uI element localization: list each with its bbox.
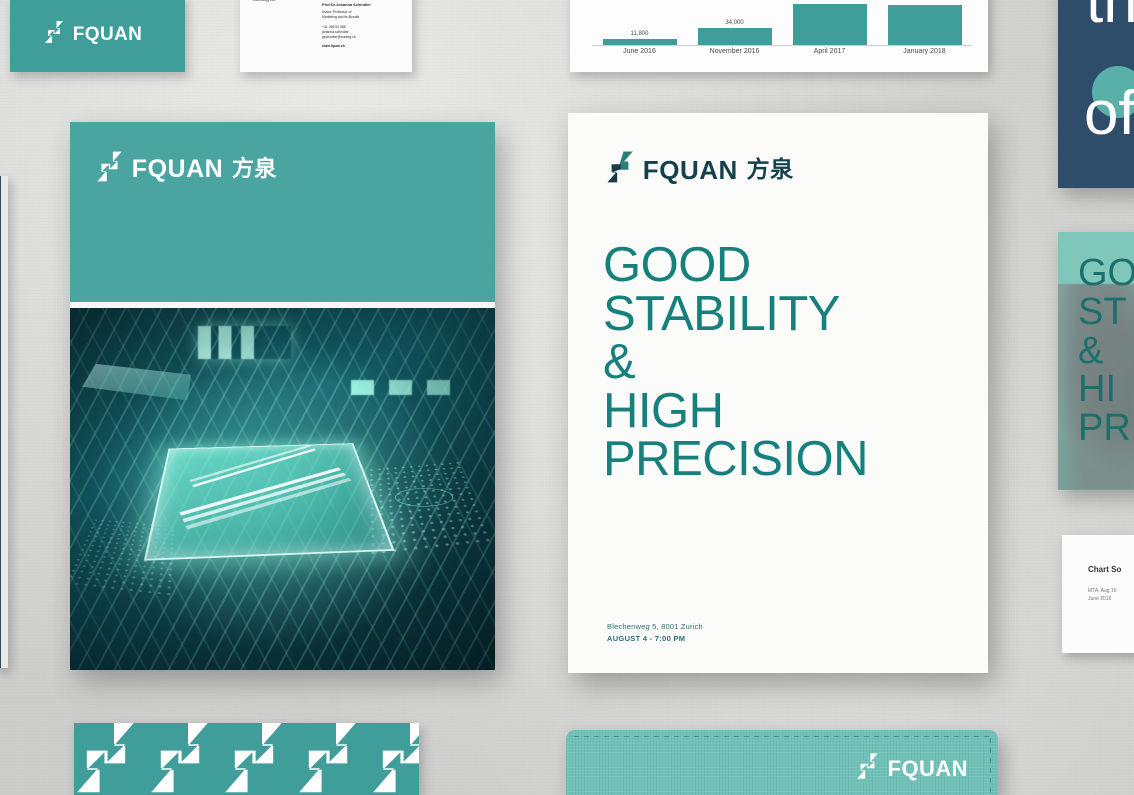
fabric-stitch-top: [574, 736, 990, 737]
teal-poster-headline-line-4: HI: [1078, 370, 1134, 409]
poster-footer: Blechenweg 5, 8001 Zurich AUGUST 4 - 7:0…: [607, 622, 703, 643]
fquan-logo-mark-icon: [296, 723, 360, 795]
circuit-board-photo: [70, 308, 495, 670]
card-role-line-1: Assoc. Professor of: [322, 10, 351, 14]
poster-edge-sliver: [0, 176, 8, 668]
poster-logo-lockup: FQUAN 方泉: [606, 150, 794, 189]
pcb-image: [70, 308, 495, 670]
poster-headline-line-4: HIGH: [603, 387, 968, 436]
chart-x-axis-labels: June 2016November 2016April 2017January …: [592, 48, 972, 55]
teal-poster-headline-line-3: &: [1078, 332, 1134, 371]
fquan-logo-mark-icon: [74, 723, 138, 795]
card-logo-wordmark: FQUAN: [73, 25, 142, 44]
chart-bar-value-label: 34,000: [725, 20, 743, 26]
edge-spine: [0, 176, 1, 668]
chart-bar: [698, 28, 772, 45]
fquan-logo-mark-icon: [222, 723, 286, 795]
brochure-logo-chinese: 方泉: [232, 158, 277, 180]
card-logo-lockup: FQUAN: [44, 20, 142, 49]
main-poster: FQUAN 方泉 GOODSTABILITY&HIGHPRECISION Ble…: [568, 113, 988, 673]
pattern-mark-row: [74, 723, 419, 795]
fabric-logo-lockup: FQUAN: [856, 752, 968, 785]
brochure-teal-band: FQUAN 方泉: [70, 122, 495, 302]
card-left-text-block: Technology Ltd.: [252, 0, 312, 3]
brochure-cover: FQUAN 方泉: [70, 122, 495, 670]
bar-chart: 11,80034,000: [592, 0, 972, 46]
poster-datetime: AUGUST 4 - 7:00 PM: [607, 634, 703, 643]
fabric-logo-wordmark: FQUAN: [888, 758, 968, 780]
brochure-logo-lockup: FQUAN 方泉: [96, 150, 277, 188]
card-contact-line-2: johanna.schindler.: [322, 30, 349, 34]
chart-x-tick-label: June 2016: [598, 48, 682, 55]
chart-bar-value-label: 11,800: [631, 31, 649, 37]
chart-bar-group: 34,000: [693, 0, 777, 45]
teal-poster-headline: GOST&HIPR: [1078, 254, 1134, 448]
card-website: www.fquan.ch: [322, 44, 345, 48]
fquan-logo-mark-icon: [606, 150, 634, 189]
teal-poster: GOST&HIPR: [1058, 232, 1134, 490]
chart-bar: [603, 39, 677, 45]
teal-poster-headline-line-2: ST: [1078, 293, 1134, 332]
poster-headline-line-1: GOOD: [603, 241, 968, 290]
fquan-logo-mark-icon: [148, 723, 212, 795]
chart-document-subtext: MTA, Aug 16 June 2016: [1088, 587, 1117, 603]
fquan-logo-mark-icon: [44, 20, 64, 49]
teal-poster-headline-line-5: PR: [1078, 409, 1134, 448]
poster-headline-line-5: PRECISION: [603, 435, 968, 484]
chart-bar-group: [883, 0, 967, 45]
chart-bar: [793, 4, 867, 45]
card-role-line-2: Marketing and its Bundle: [322, 15, 359, 19]
fquan-logo-mark-icon: [370, 723, 419, 795]
chart-bar-group: [788, 0, 872, 45]
chart-bar: [888, 5, 962, 45]
card-contact-line-3: gschindler@surseg.ch: [322, 35, 356, 39]
chart-x-tick-label: April 2017: [788, 48, 872, 55]
card-contact-text-block: Prof.Dr.Johanna Schindler Assoc. Profess…: [322, 2, 404, 50]
chart-bar-group: 11,800: [598, 0, 682, 45]
teal-poster-headline-line-1: GO: [1078, 254, 1134, 293]
teal-business-card: FQUAN: [10, 0, 185, 72]
pattern-card: [74, 723, 419, 795]
white-business-card: Technology Ltd. Prof.Dr.Johanna Schindle…: [240, 0, 412, 72]
card-company-line: Technology Ltd.: [252, 0, 276, 2]
chart-document-sub-line-1: MTA, Aug 16: [1088, 588, 1117, 594]
chart-plot-area: 11,80034,000: [592, 0, 972, 46]
brochure-logo-wordmark: FQUAN: [132, 157, 223, 182]
card-person-name: Prof.Dr.Johanna Schindler: [322, 2, 404, 8]
chart-x-tick-label: January 2018: [883, 48, 967, 55]
poster-headline: GOODSTABILITY&HIGHPRECISION: [603, 241, 968, 484]
poster-headline-line-3: &: [603, 338, 968, 387]
pcb-vignette: [70, 308, 495, 670]
poster-logo-wordmark: FQUAN: [643, 157, 738, 183]
poster-headline-line-2: STABILITY: [603, 290, 968, 339]
chart-sheet: 11,80034,000 June 2016November 2016April…: [570, 0, 988, 72]
fquan-logo-mark-icon: [96, 150, 123, 188]
card-contact-line-1: +41 266 94 088: [322, 25, 346, 29]
poster-logo-chinese: 方泉: [747, 158, 794, 181]
chart-document-sub-line-2: June 2016: [1088, 596, 1111, 602]
poster-address: Blechenweg 5, 8001 Zurich: [607, 622, 703, 631]
navy-poster-line-1: th: [1086, 0, 1134, 32]
chart-x-tick-label: November 2016: [693, 48, 777, 55]
fquan-logo-mark-icon: [856, 752, 879, 785]
fabric-stitch-right: [990, 738, 991, 795]
chart-document-title: Chart So: [1088, 565, 1121, 574]
navy-poster: th of: [1058, 0, 1134, 188]
teal-fabric-item: FQUAN: [566, 730, 998, 795]
chart-document: Chart So MTA, Aug 16 June 2016: [1062, 535, 1134, 653]
navy-poster-line-2: of: [1084, 84, 1134, 144]
